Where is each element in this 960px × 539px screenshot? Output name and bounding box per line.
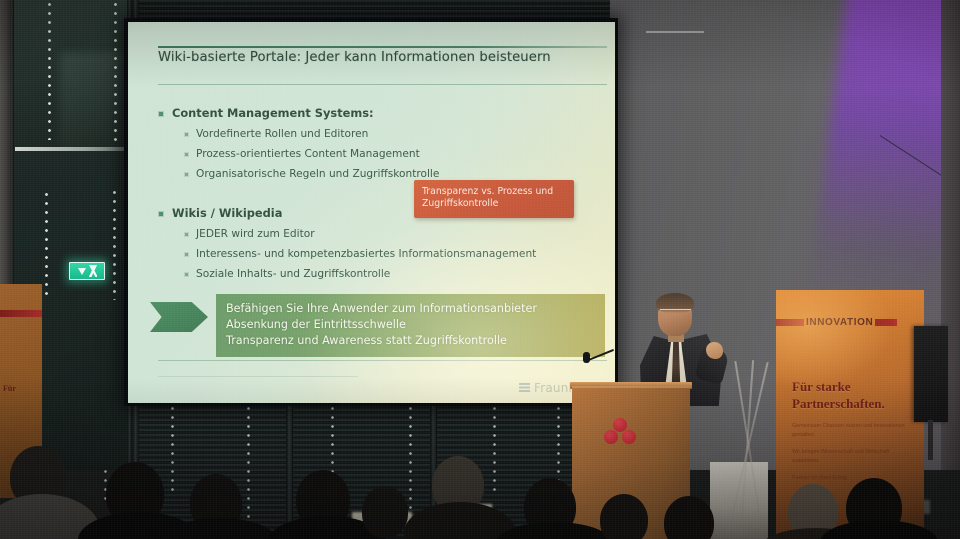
- down-arrow-icon: [78, 268, 86, 275]
- banner-right-highlight: [776, 290, 924, 420]
- square-bullet-icon: [158, 111, 164, 117]
- slide-title-rule: [158, 84, 607, 85]
- banner-left-bar: [0, 310, 42, 317]
- bullet-heading-label: Content Management Systems:: [172, 106, 374, 120]
- bullet-item: Vordefinerte Rollen und Editoren: [184, 128, 601, 140]
- summary-line-2: Absenkung der Eintrittsschwelle: [226, 317, 595, 333]
- bullet-item: Organisatorische Regeln und Zugriffskont…: [184, 168, 601, 180]
- emergency-exit-sign: [69, 262, 105, 280]
- callout-line-1: Transparenz vs. Prozess und: [422, 186, 566, 198]
- slide-bottom-rule: [158, 360, 607, 361]
- led-string: [112, 188, 117, 300]
- square-bullet-icon: [184, 152, 189, 157]
- hand: [706, 342, 723, 359]
- microphone-icon: [583, 352, 590, 363]
- glasses-icon: [660, 309, 691, 315]
- slide-bottom-rule-2: [158, 376, 358, 377]
- conference-photo: Wiki-basierte Portale: Jeder kann Inform…: [0, 0, 960, 539]
- square-bullet-icon: [184, 172, 189, 177]
- banner-left-headline: Für: [3, 384, 37, 393]
- led-string: [44, 190, 49, 300]
- bullet-item-label: Soziale Inhalts- und Zugriffskontrolle: [196, 268, 390, 280]
- bullet-heading: Content Management Systems:: [158, 106, 601, 120]
- square-bullet-icon: [184, 232, 189, 237]
- slide-callout-box: Transparenz vs. Prozess und Zugriffskont…: [414, 180, 574, 218]
- slide-summary: Befähigen Sie Ihre Anwender zum Informat…: [150, 294, 605, 356]
- audience-head: [362, 486, 408, 538]
- bullet-item-label: JEDER wird zum Editor: [196, 228, 315, 240]
- fraunhofer-mark-icon: [519, 383, 530, 394]
- bullet-item-label: Prozess-orientiertes Content Management: [196, 148, 420, 160]
- slide-top-rule: [158, 46, 607, 48]
- summary-line-1: Befähigen Sie Ihre Anwender zum Informat…: [226, 301, 595, 317]
- bullet-item: Prozess-orientiertes Content Management: [184, 148, 601, 160]
- led-string: [47, 0, 52, 140]
- loudspeaker-box: [914, 326, 948, 422]
- presentation-slide: Wiki-basierte Portale: Jeder kann Inform…: [128, 22, 615, 403]
- bullet-item: JEDER wird zum Editor: [184, 228, 601, 240]
- square-bullet-icon: [158, 211, 164, 217]
- square-bullet-icon: [184, 252, 189, 257]
- led-string: [113, 0, 118, 142]
- square-bullet-icon: [184, 132, 189, 137]
- bullet-item: Interessens- und kompetenzbasiertes Info…: [184, 248, 601, 260]
- bullet-heading-label: Wikis / Wikipedia: [172, 206, 282, 220]
- summary-line-3: Transparenz und Awareness statt Zugriffs…: [226, 333, 595, 349]
- chevron-arrow-icon: [150, 302, 208, 332]
- bullet-item: Soziale Inhalts- und Zugriffskontrolle: [184, 268, 601, 280]
- running-man-icon: [88, 265, 97, 277]
- bullet-item-label: Organisatorische Regeln und Zugriffskont…: [196, 168, 439, 180]
- audience-head: [600, 494, 648, 539]
- callout-line-2: Zugriffskontrolle: [422, 198, 566, 210]
- summary-band: Befähigen Sie Ihre Anwender zum Informat…: [216, 294, 605, 357]
- slide-title: Wiki-basierte Portale: Jeder kann Inform…: [158, 50, 595, 65]
- bullet-item-label: Vordefinerte Rollen und Editoren: [196, 128, 368, 140]
- bullet-item-label: Interessens- und kompetenzbasiertes Info…: [196, 248, 536, 260]
- wall-seam: [646, 31, 704, 33]
- square-bullet-icon: [184, 272, 189, 277]
